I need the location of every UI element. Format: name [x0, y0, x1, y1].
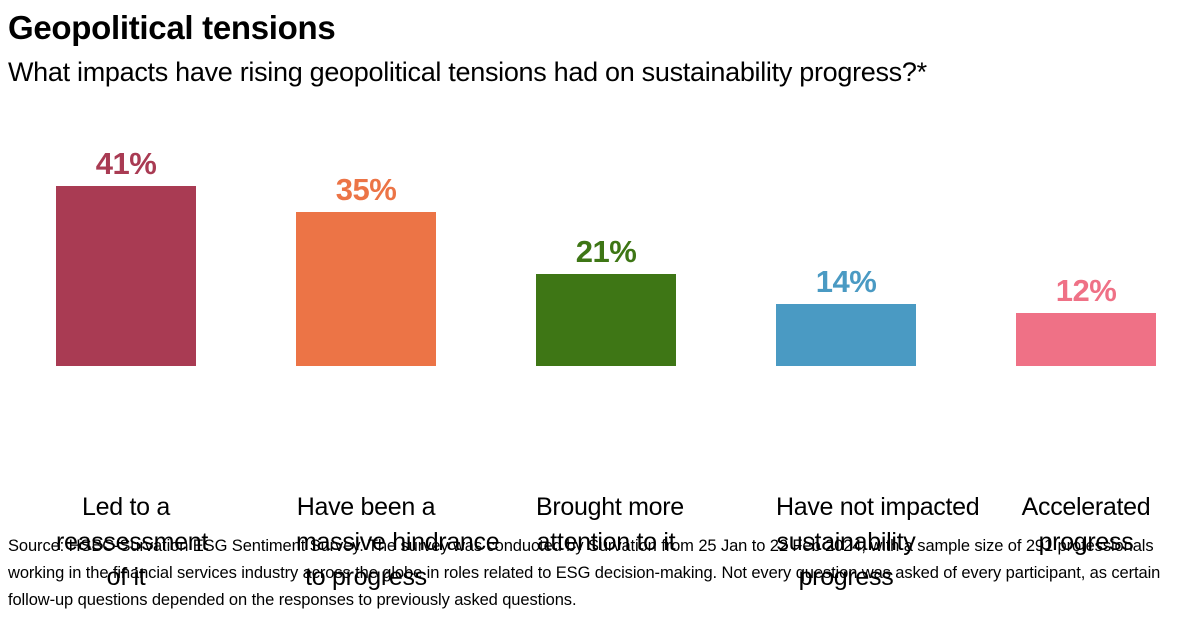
- bar-group-4[interactable]: 14%: [776, 112, 916, 366]
- bar-rect-5[interactable]: [1016, 313, 1156, 366]
- bar-rect-3[interactable]: [536, 274, 676, 366]
- bar-value-label-3: 21%: [576, 235, 637, 269]
- bar-value-label-5: 12%: [1056, 274, 1117, 308]
- chart-header: Geopolitical tensions What impacts have …: [8, 8, 1192, 90]
- chart-subtitle: What impacts have rising geopolitical te…: [8, 54, 1192, 90]
- chart-plot-area: 41% 35% 21% 14% 12% Led to a: [0, 112, 1200, 512]
- bar-group-2[interactable]: 35%: [296, 112, 436, 366]
- bar-group-1[interactable]: 41%: [56, 112, 196, 366]
- page-title: Geopolitical tensions: [8, 8, 1192, 48]
- category-label-5-line-1: Accelerated: [1016, 490, 1156, 525]
- category-label-4-line-1: Have not impacted: [776, 490, 916, 525]
- category-label-2-line-1: Have been a: [296, 490, 436, 525]
- bar-group-3[interactable]: 21%: [536, 112, 676, 366]
- chart-page: Geopolitical tensions What impacts have …: [0, 0, 1200, 630]
- bar-value-label-2: 35%: [336, 173, 397, 207]
- bar-series: 41% 35% 21% 14% 12%: [56, 112, 1147, 366]
- bar-value-label-4: 14%: [816, 265, 877, 299]
- category-label-3-line-1: Brought more: [536, 490, 676, 525]
- category-label-1-line-1: Led to a: [56, 490, 196, 525]
- bar-value-label-1: 41%: [96, 147, 157, 181]
- source-footnote: Source: HSBC-Survation ESG Sentiment Sur…: [8, 533, 1192, 614]
- bar-rect-2[interactable]: [296, 212, 436, 366]
- bar-group-5[interactable]: 12%: [1016, 112, 1156, 366]
- bar-rect-4[interactable]: [776, 304, 916, 366]
- bar-rect-1[interactable]: [56, 186, 196, 366]
